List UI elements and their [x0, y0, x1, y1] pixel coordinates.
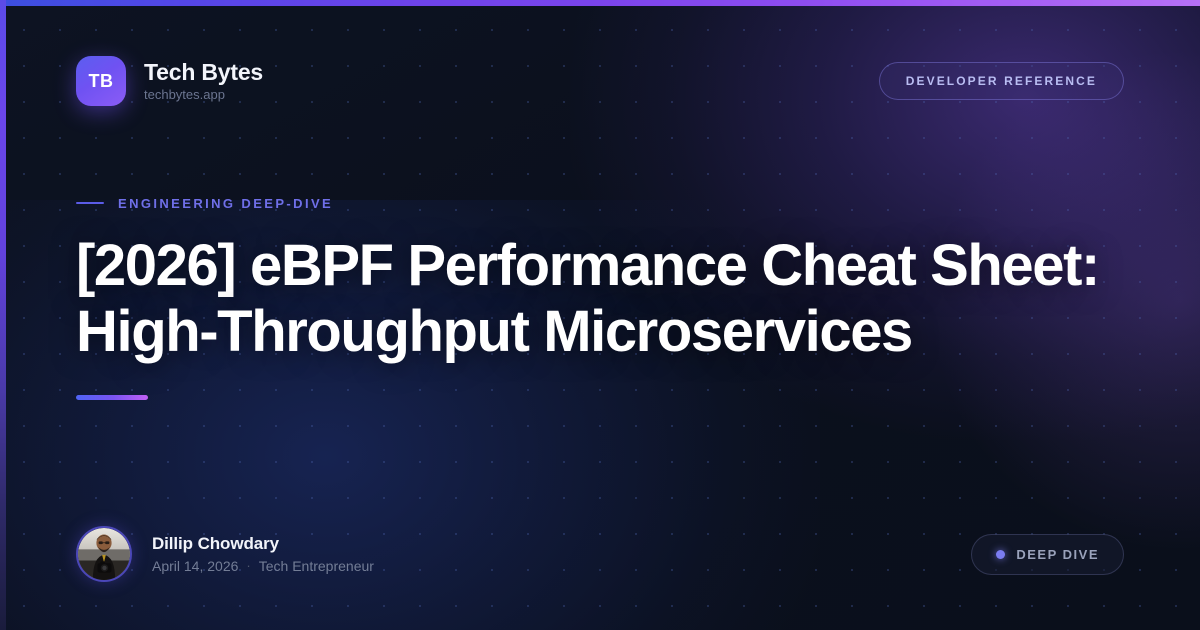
brand-block[interactable]: TB Tech Bytes techbytes.app: [76, 56, 263, 106]
brand-text: Tech Bytes techbytes.app: [144, 60, 263, 103]
eyebrow: ENGINEERING DEEP-DIVE: [76, 196, 1124, 211]
left-gradient-bar: [0, 0, 6, 630]
brand-url: techbytes.app: [144, 88, 263, 102]
top-gradient-bar: [0, 0, 1200, 6]
meta-separator: ·: [246, 559, 250, 574]
status-dot-icon: [996, 550, 1005, 559]
brand-name: Tech Bytes: [144, 60, 263, 85]
eyebrow-label: ENGINEERING DEEP-DIVE: [118, 196, 333, 211]
deep-dive-badge[interactable]: DEEP DIVE: [971, 534, 1124, 575]
author-text: Dillip Chowdary April 14, 2026 · Tech En…: [152, 534, 374, 575]
card-content: TB Tech Bytes techbytes.app DEVELOPER RE…: [0, 0, 1200, 630]
title-block: ENGINEERING DEEP-DIVE [2026] eBPF Perfor…: [76, 150, 1124, 498]
eyebrow-dash-icon: [76, 202, 104, 204]
publish-date: April 14, 2026: [152, 558, 238, 574]
card-footer: Dillip Chowdary April 14, 2026 · Tech En…: [76, 498, 1124, 630]
brand-logo-icon: TB: [76, 56, 126, 106]
author-name: Dillip Chowdary: [152, 534, 374, 554]
avatar: [76, 526, 132, 582]
author-meta: April 14, 2026 · Tech Entrepreneur: [152, 558, 374, 574]
deep-dive-label: DEEP DIVE: [1016, 547, 1099, 562]
page-title: [2026] eBPF Performance Cheat Sheet: Hig…: [76, 233, 1124, 365]
accent-underline: [76, 395, 148, 400]
author-role: Tech Entrepreneur: [259, 558, 374, 574]
developer-reference-badge[interactable]: DEVELOPER REFERENCE: [879, 62, 1124, 100]
card-header: TB Tech Bytes techbytes.app DEVELOPER RE…: [76, 0, 1124, 150]
social-share-card: TB Tech Bytes techbytes.app DEVELOPER RE…: [0, 0, 1200, 630]
author-block[interactable]: Dillip Chowdary April 14, 2026 · Tech En…: [76, 526, 374, 582]
